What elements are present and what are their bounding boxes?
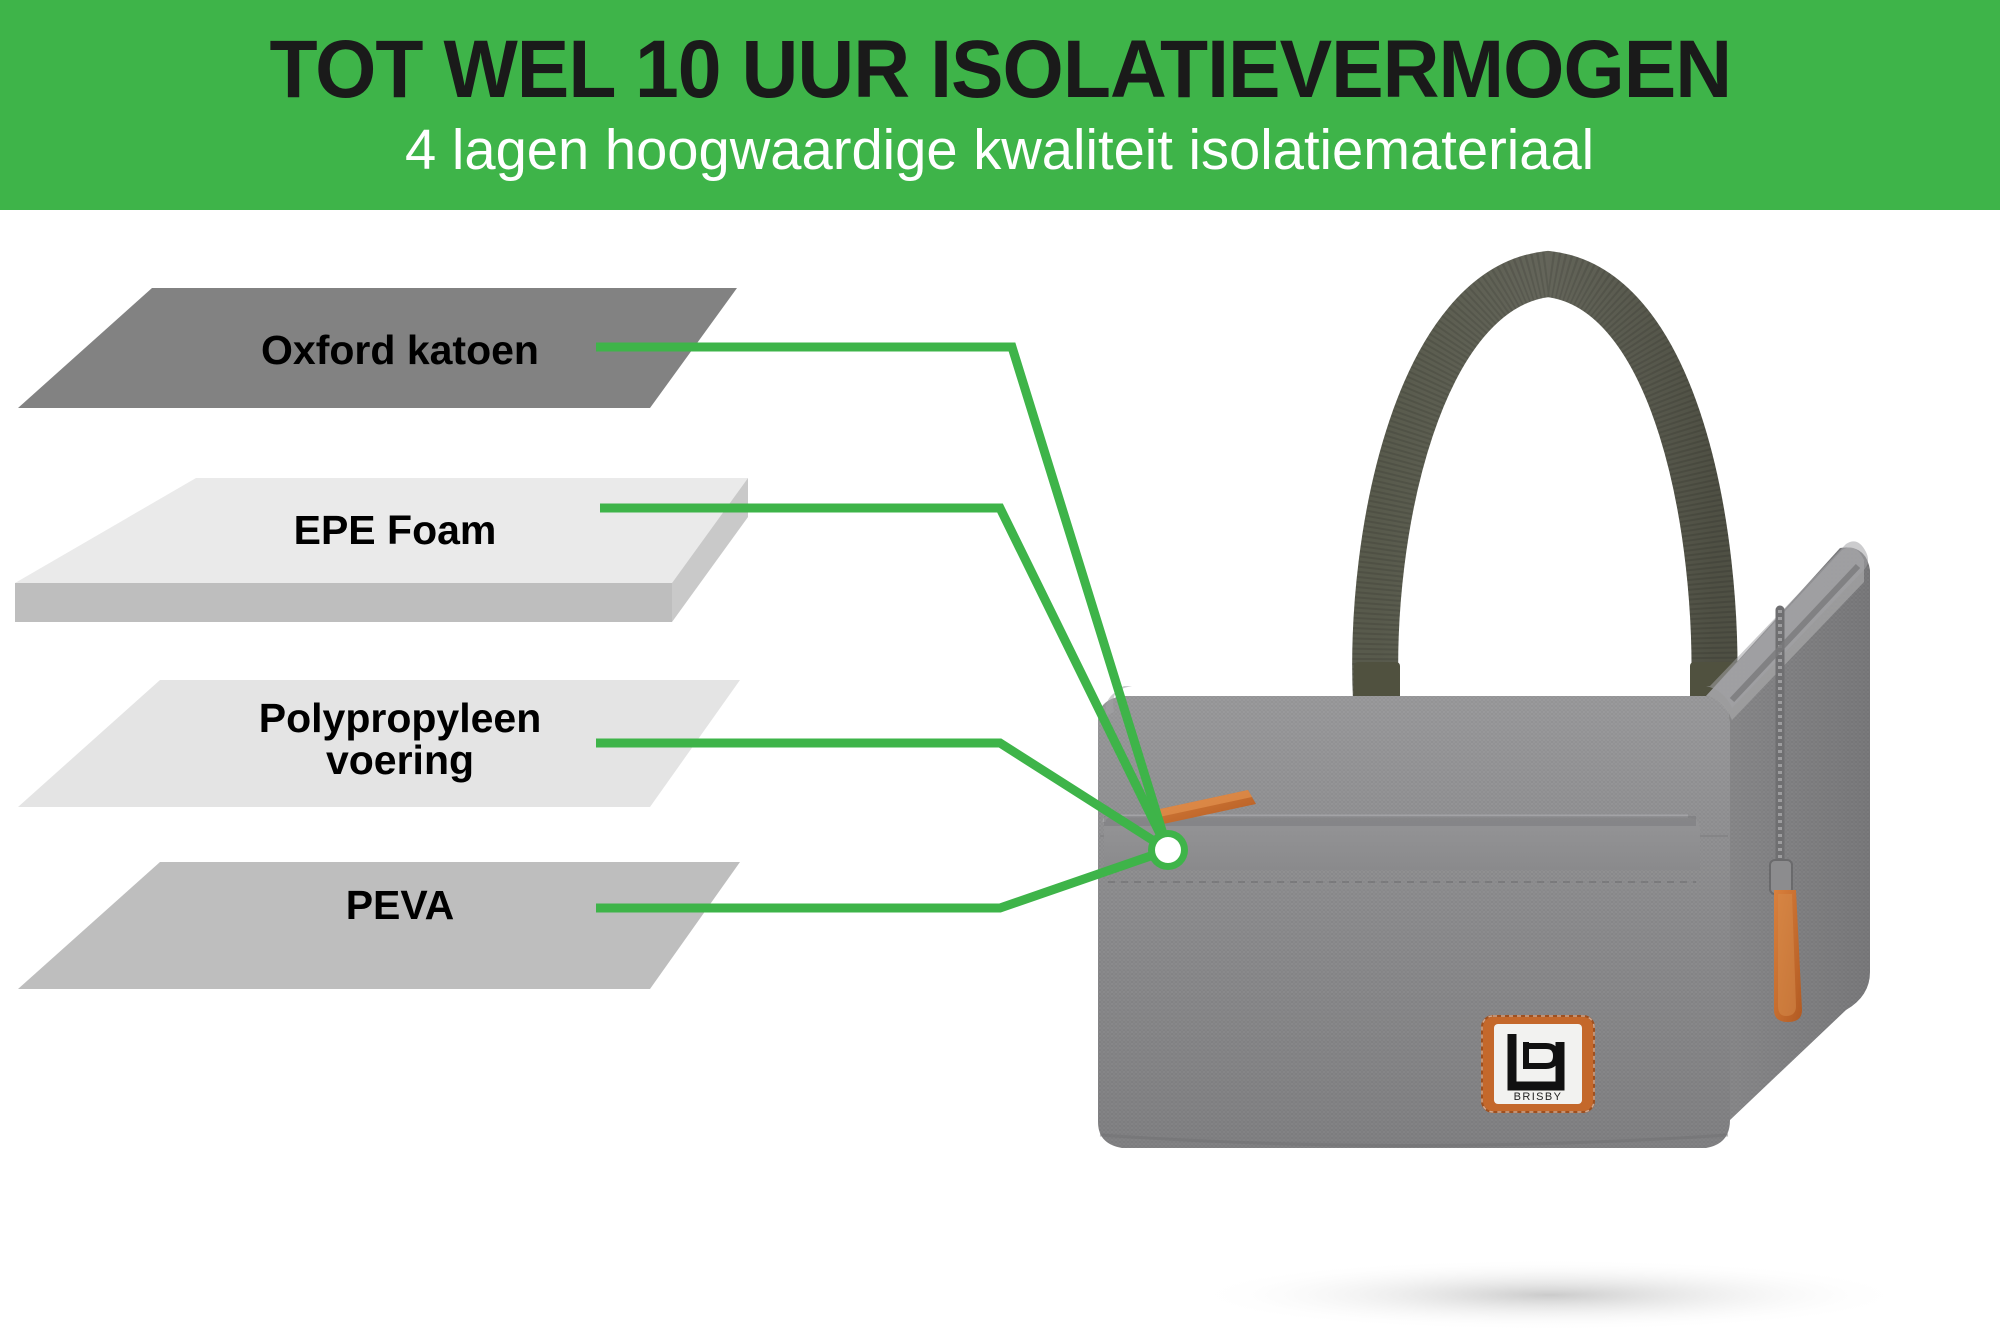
banner-subtitle: 4 lagen hoogwaardige kwaliteit isolatiem…: [405, 121, 1594, 181]
header-banner: TOT WEL 10 UUR ISOLATIEVERMOGEN 4 lagen …: [0, 0, 2000, 210]
brand-logo-text: BRISBY: [1514, 1091, 1563, 1103]
layer-shape-peva: [18, 862, 740, 989]
layer-shape-epe-foam-front: [15, 583, 672, 622]
material-layers-stack: [0, 210, 1000, 1343]
infographic-canvas: TOT WEL 10 UUR ISOLATIEVERMOGEN 4 lagen …: [0, 0, 2000, 1343]
brand-logo-patch: BRISBY: [1482, 1016, 1594, 1112]
layer-shape-epe-foam-top: [15, 478, 748, 583]
product-image-bag: BRISBY: [1080, 230, 2000, 1343]
banner-title: TOT WEL 10 UUR ISOLATIEVERMOGEN: [269, 29, 1731, 111]
layer-shape-oxford-katoen: [18, 288, 737, 408]
layer-shape-polypropyleen-voering: [18, 680, 740, 807]
product-shadow: [1190, 1259, 1910, 1331]
